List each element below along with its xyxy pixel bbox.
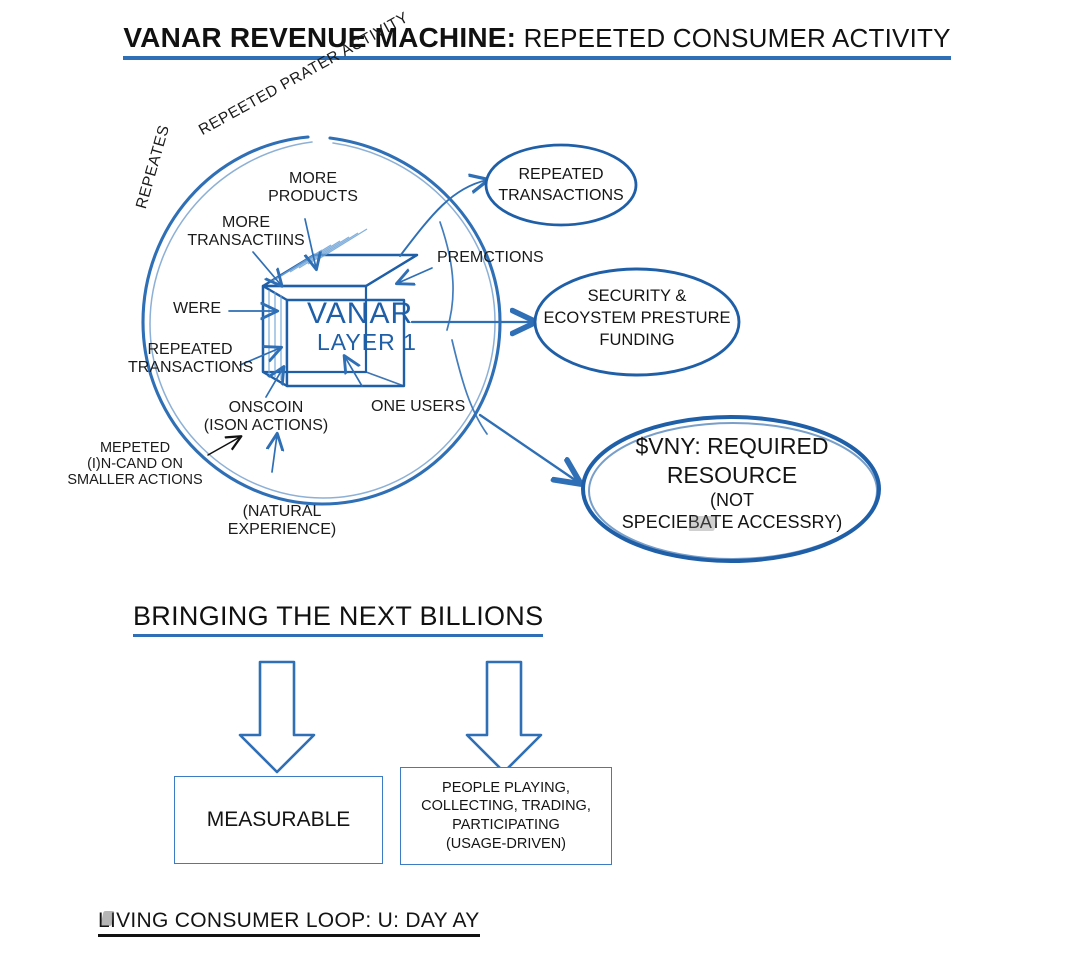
footer-caption: LIVING CONSUMER LOOP: U: DAY AY — [98, 909, 480, 937]
ellipse-line: TRANSACTIONS — [486, 186, 636, 207]
diagram-canvas: VANAR REVENUE MACHINE: REPEETED CONSUMER… — [0, 0, 1074, 959]
ellipse-line: ECOYSTEM PRESTURE — [535, 308, 739, 330]
down-arrow-left — [240, 662, 314, 772]
ellipse-line: SPECIEBATE ACCESSRY) — [596, 511, 868, 533]
ellipse-line: RESOURCE — [596, 461, 868, 490]
ellipse-text-vny-resource: $VNY: REQUIRED RESOURCE (NOT SPECIEBATE … — [596, 432, 868, 534]
outcome-box-line: (USAGE-DRIVEN) — [421, 835, 591, 854]
label-more-products: MOREPRODUCTS — [258, 170, 368, 206]
outcome-box-line: COLLECTING, TRADING, — [421, 797, 591, 816]
outcome-box-line: PEOPLE PLAYING, — [421, 779, 591, 798]
ellipse-line: FUNDING — [535, 330, 739, 352]
ellipse-line: REPEATED — [486, 165, 636, 186]
vanar-block-subtitle: LAYER 1 — [317, 330, 417, 356]
footer-suffix: : DAY AY — [393, 909, 479, 932]
label-natural-experience: (NATURALEXPERIENCE) — [224, 503, 340, 539]
mepeted-arrow — [208, 437, 240, 455]
label-more-transactiins: MORETRANSACTIINS — [178, 214, 314, 250]
label-mepeted-smaller-actions: MEPETED(I)N-CAND ONSMALLER ACTIONS — [60, 440, 210, 489]
scan-artifact-smudge — [688, 516, 718, 531]
label-were: WERE — [165, 300, 229, 318]
ellipse-text-security-funding: SECURITY & ECOYSTEM PRESTURE FUNDING — [535, 286, 739, 351]
ellipse-text-repeated-transactions: REPEATED TRANSACTIONS — [486, 165, 636, 207]
outcome-box-measurable: MEASURABLE — [174, 776, 383, 864]
down-arrow-shapes — [240, 662, 541, 772]
ellipse-line: (NOT — [596, 489, 868, 511]
outcome-box-measurable-text: MEASURABLE — [207, 808, 351, 832]
label-one-users: ONE USERS — [371, 398, 465, 416]
section-heading-text: BRINGING THE NEXT BILLIONS — [133, 601, 543, 631]
footer-underline — [98, 934, 480, 937]
footer-prefix: LIVING CONSUMER LOOP: U — [98, 909, 393, 933]
label-onscoin: ONSCOIN(ISON ACTIONS) — [201, 399, 331, 435]
ellipse-line: $VNY: REQUIRED — [596, 432, 868, 461]
section-heading: BRINGING THE NEXT BILLIONS — [133, 601, 543, 637]
outcome-box-people-activity: PEOPLE PLAYING, COLLECTING, TRADING, PAR… — [400, 767, 612, 865]
vanar-block-title: VANAR — [307, 297, 413, 331]
label-repeated-transactions: REPEATEDTRANSACTIONS — [128, 341, 252, 377]
section-heading-underline — [133, 634, 543, 637]
down-arrow-right — [467, 662, 541, 772]
ellipse-line: SECURITY & — [535, 286, 739, 308]
outcome-box-line: PARTICIPATING — [421, 816, 591, 835]
label-premctions: PREMCTIONS — [437, 249, 541, 267]
